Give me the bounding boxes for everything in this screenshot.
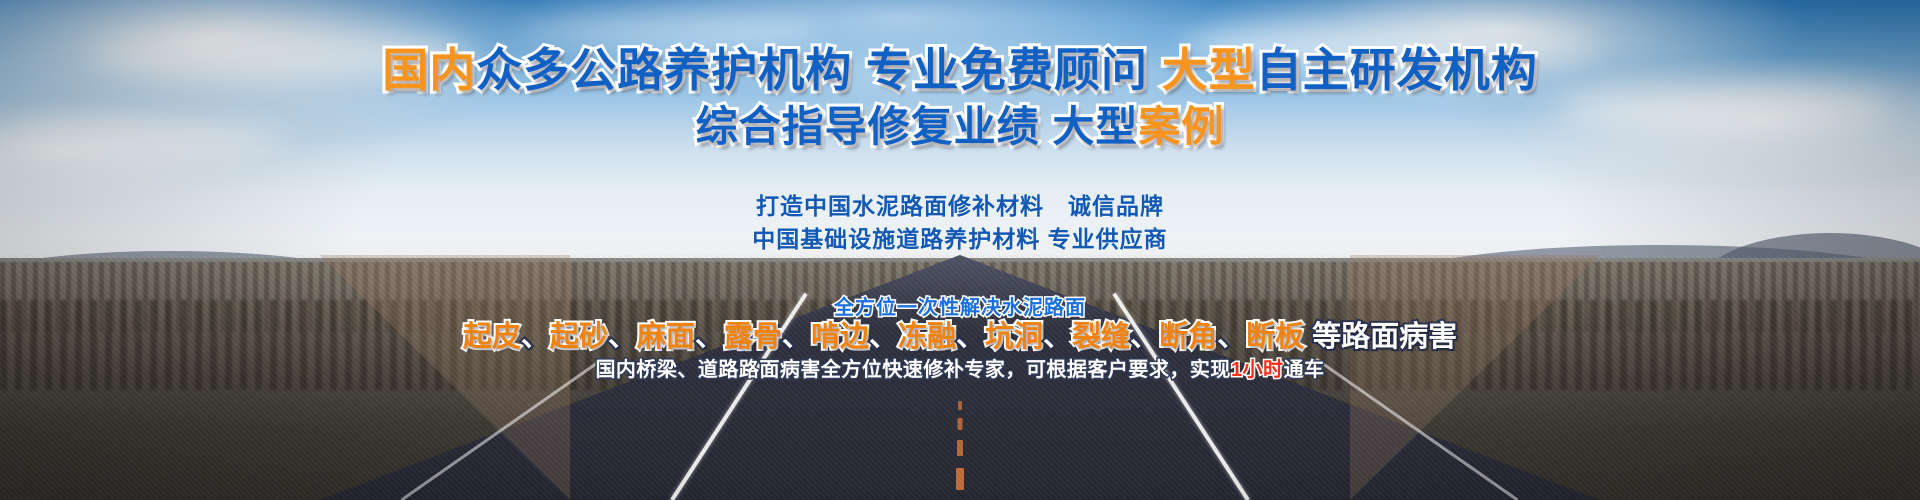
text-run: 坑洞: [985, 321, 1043, 353]
text-run: [1148, 44, 1162, 96]
text-run: 、: [521, 321, 550, 353]
text-run: 啃边: [811, 321, 869, 353]
text-run: 露骨: [724, 321, 782, 353]
text-run: 、: [1130, 321, 1159, 353]
headline-line-1: 国内众多公路养护机构 专业免费顾问 大型自主研发机构: [0, 44, 1920, 96]
text-run: 裂缝: [1072, 321, 1130, 353]
text-run: 国内桥梁、道路路面病害全方位快速修补专家，可根据客户要求，实现: [595, 359, 1231, 381]
text-run: 起砂: [550, 321, 608, 353]
text-run: 、: [608, 321, 637, 353]
text-run: 起皮: [463, 321, 521, 353]
promo-banner: 国内众多公路养护机构 专业免费顾问 大型自主研发机构 综合指导修复业绩 大型案例…: [0, 0, 1920, 500]
text-run: 、: [782, 321, 811, 353]
banner-content: 国内众多公路养护机构 专业免费顾问 大型自主研发机构 综合指导修复业绩 大型案例…: [0, 0, 1920, 500]
text-run: 大型: [1052, 103, 1138, 150]
text-run: 案例: [1138, 103, 1224, 150]
defect-list-line: 起皮、起砂、麻面、露骨、啃边、冻融、坑洞、裂缝、断角、断板 等路面病害: [0, 320, 1920, 354]
subheading-line-2: 中国基础设施道路养护材料 专业供应商: [0, 225, 1920, 254]
text-run: 自主研发机构: [1256, 44, 1538, 96]
text-run: 、: [695, 321, 724, 353]
text-run: 麻面: [637, 321, 695, 353]
bottom-heading-text: 全方位一次性解决水泥路面: [834, 297, 1086, 319]
subheading-line-1: 打造中国水泥路面修补材料 诚信品牌: [0, 192, 1920, 221]
headline-line-2: 综合指导修复业绩 大型案例: [0, 103, 1920, 151]
text-run: 、: [956, 321, 985, 353]
text-run: [1040, 103, 1053, 150]
text-run: 冻融: [898, 321, 956, 353]
text-run: 国内: [382, 44, 476, 96]
text-run: 、: [1043, 321, 1072, 353]
text-run: 、: [869, 321, 898, 353]
text-run: 等路面病害: [1304, 321, 1457, 353]
text-run: [852, 44, 866, 96]
text-run: 断角: [1159, 321, 1217, 353]
text-run: 、: [1217, 321, 1246, 353]
bottom-heading: 全方位一次性解决水泥路面: [0, 296, 1920, 320]
text-run: 通车: [1284, 359, 1325, 381]
text-run: 免费顾问: [960, 44, 1148, 96]
text-run: 断板: [1246, 321, 1304, 353]
text-run: 专业: [866, 44, 960, 96]
text-run: 众多公路养护机构: [476, 44, 852, 96]
text-run: 大型: [1162, 44, 1256, 96]
text-run: 综合指导修复业绩: [696, 103, 1040, 150]
service-claim-line: 国内桥梁、道路路面病害全方位快速修补专家，可根据客户要求，实现1小时通车: [0, 358, 1920, 383]
text-run: 1小时: [1231, 359, 1284, 381]
